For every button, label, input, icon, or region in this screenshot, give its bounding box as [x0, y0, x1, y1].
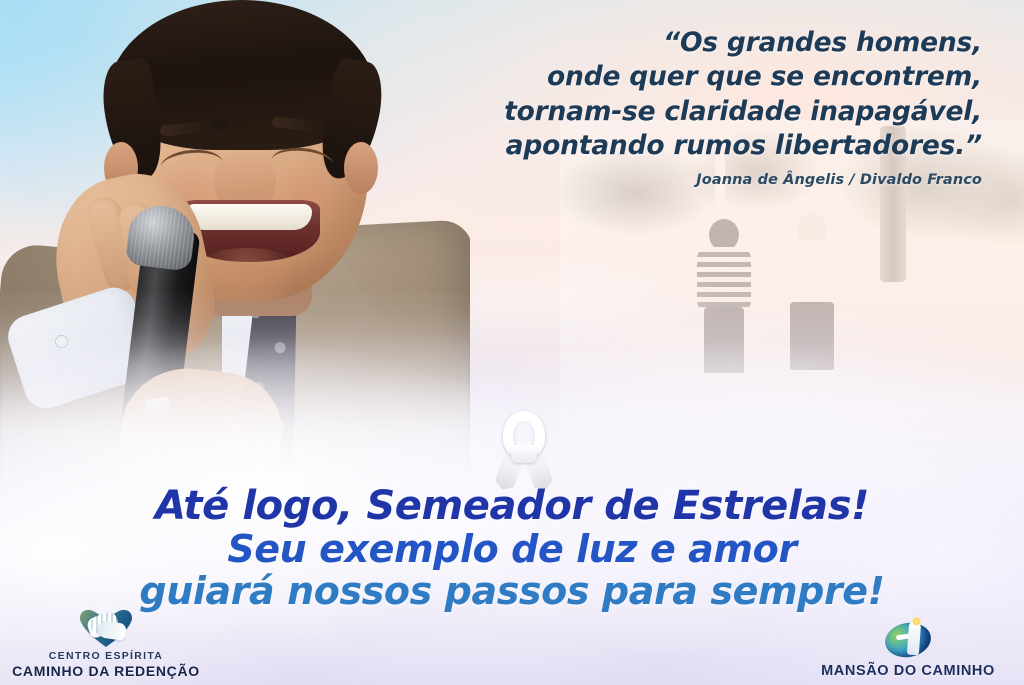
quote-text: “Os grandes homens, onde quer que se enc… [422, 26, 982, 164]
logo-centro-espirita-caminho-da-redencao: CENTRO ESPÍRITA CAMINHO DA REDENÇÃO [8, 609, 204, 679]
message-line-3: guiará nossos passos para sempre! [0, 572, 1024, 611]
logo-mansao-do-caminho: MANSÃO DO CAMINHO [800, 619, 1016, 679]
quote-line-3: tornam-se claridade inapagável, [422, 95, 982, 129]
message-line-1: Até logo, Semeador de Estrelas! [0, 486, 1024, 527]
ribbon-knot [511, 445, 537, 463]
quote-line-2: onde quer que se encontrem, [422, 60, 982, 94]
ear-right [344, 142, 378, 194]
quote-line-4: apontando rumos libertadores.” [422, 129, 982, 163]
tribute-message: Até logo, Semeador de Estrelas! Seu exem… [0, 486, 1024, 610]
logo-left-line-1: CENTRO ESPÍRITA [8, 650, 204, 662]
quote-line-1: “Os grandes homens, [422, 26, 982, 60]
torch-flame-icon [912, 617, 921, 626]
white-mourning-ribbon-icon [489, 411, 559, 489]
logo-left-line-2: CAMINHO DA REDENÇÃO [8, 663, 204, 679]
heart-clasped-hands-icon [80, 609, 132, 647]
quote-attribution: Joanna de Ângelis / Divaldo Franco [422, 172, 982, 188]
message-line-2: Seu exemplo de luz e amor [0, 530, 1024, 569]
globe-figure-torch-icon [883, 619, 933, 659]
poster-canvas: “Os grandes homens, onde quer que se enc… [0, 0, 1024, 685]
teeth [186, 204, 312, 230]
logo-right-line-2: MANSÃO DO CAMINHO [800, 663, 1016, 679]
